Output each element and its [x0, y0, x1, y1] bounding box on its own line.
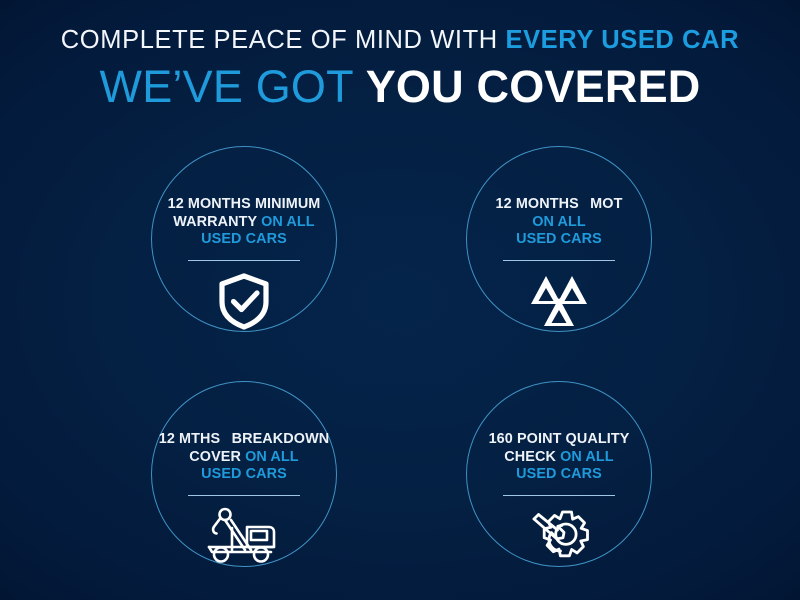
promo-banner: COMPLETE PEACE OF MIND WITH EVERY USED C…: [0, 0, 800, 600]
feature-mot-divider: [503, 260, 615, 261]
feature-quality-line1: 160 POINT QUALITY: [489, 431, 630, 447]
shield-check-icon: [194, 270, 294, 332]
feature-breakdown-line1: 12 MTHS BREAKDOWN: [159, 431, 330, 447]
headline-line-2-blue: WE’VE GOT: [100, 61, 366, 112]
feature-mot-line3: USED CARS: [516, 231, 602, 247]
feature-breakdown-caption: 12 MTHS BREAKDOWN COVER ON ALL USED CARS: [114, 431, 374, 484]
tow-truck-icon: [194, 505, 294, 567]
feature-warranty-line3: USED CARS: [201, 231, 287, 247]
feature-quality-caption: 160 POINT QUALITY CHECK ON ALL USED CARS: [429, 431, 689, 484]
feature-breakdown-line2-white: COVER: [189, 449, 245, 465]
feature-warranty-line2-blue: ON ALL: [261, 214, 315, 230]
feature-quality-line3: USED CARS: [516, 466, 602, 482]
feature-mot-caption: 12 MONTHS MOT ON ALL USED CARS: [429, 196, 689, 249]
headline-line-1-white: COMPLETE PEACE OF MIND WITH: [61, 26, 506, 54]
feature-warranty-line1: 12 MONTHS MINIMUM: [168, 196, 321, 212]
feature-warranty-caption: 12 MONTHS MINIMUM WARRANTY ON ALL USED C…: [114, 196, 374, 249]
headline-line-2: WE’VE GOT YOU COVERED: [0, 61, 800, 113]
feature-mot-line2-blue: ON ALL: [532, 214, 586, 230]
gear-wrench-icon: [509, 505, 609, 567]
feature-quality-divider: [503, 495, 615, 496]
headline-line-1-blue: EVERY USED CAR: [505, 26, 739, 54]
feature-warranty-divider: [188, 260, 300, 261]
feature-breakdown-divider: [188, 495, 300, 496]
headline-line-1: COMPLETE PEACE OF MIND WITH EVERY USED C…: [0, 26, 800, 55]
feature-quality-line2-blue: ON ALL: [560, 449, 614, 465]
feature-quality-line2-white: CHECK: [504, 449, 560, 465]
feature-quality: 160 POINT QUALITY CHECK ON ALL USED CARS: [429, 431, 689, 567]
feature-warranty: 12 MONTHS MINIMUM WARRANTY ON ALL USED C…: [114, 196, 374, 332]
feature-breakdown-line2-blue: ON ALL: [245, 449, 299, 465]
feature-breakdown: 12 MTHS BREAKDOWN COVER ON ALL USED CARS: [114, 431, 374, 567]
mot-triangles-icon: [509, 270, 609, 332]
feature-mot: 12 MONTHS MOT ON ALL USED CARS: [429, 196, 689, 332]
headline-line-2-white: YOU COVERED: [366, 61, 701, 112]
feature-breakdown-line3: USED CARS: [201, 466, 287, 482]
feature-warranty-line2-white: WARRANTY: [173, 214, 261, 230]
feature-mot-line1: 12 MONTHS MOT: [496, 196, 623, 212]
